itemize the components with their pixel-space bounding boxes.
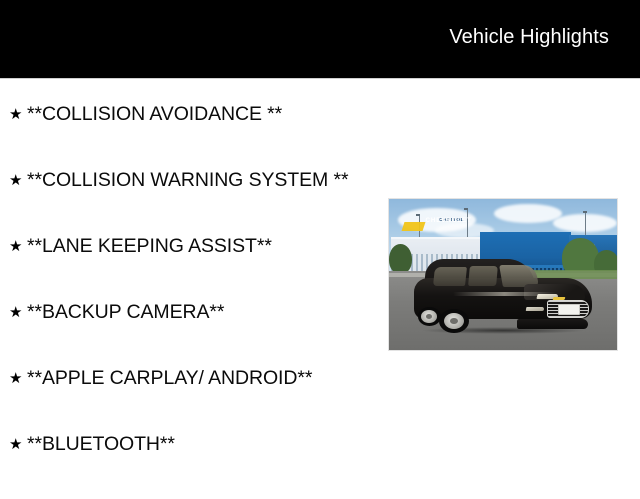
star-icon: ★ [9,169,27,192]
vehicle-highlights-list: ★ **COLLISION AVOIDANCE ** ★ **COLLISION… [0,79,375,480]
star-icon: ★ [9,433,27,456]
license-plate [558,304,580,315]
side-window [468,266,498,286]
chevrolet-bowtie-icon [401,222,424,231]
vehicle-photo: CAPITOL CHEVROLET Cadillac [388,198,618,351]
rear-wheel [418,307,441,326]
highlight-label: **COLLISION AVOIDANCE ** [27,103,375,126]
list-item: ★ **BLUETOOTH** [0,433,375,499]
star-icon: ★ [9,367,27,390]
highlight-label: **BACKUP CAMERA** [27,301,375,324]
dealer-sign-chevrolet: CHEVROLET [425,217,471,224]
highlight-label: **LANE KEEPING ASSIST** [27,235,375,258]
cloud [494,204,562,224]
light-pole-head [583,211,587,213]
star-icon: ★ [9,103,27,126]
fog-light [526,307,545,311]
highlight-label: **BLUETOOTH** [27,433,375,456]
list-item: ★ **COLLISION AVOIDANCE ** [0,103,375,169]
wheel-rim [421,310,437,323]
star-icon: ★ [9,235,27,258]
front-bumper [517,319,588,329]
tree [389,244,412,274]
highlight-label: **APPLE CARPLAY/ ANDROID** [27,367,375,390]
vehicle-sedan [414,259,592,331]
wheel-rim [444,313,465,330]
light-pole-head [416,214,420,216]
photo-stage: CAPITOL CHEVROLET Cadillac [389,199,617,350]
list-item: ★ **COLLISION WARNING SYSTEM ** [0,169,375,235]
list-item: ★ **LANE KEEPING ASSIST** [0,235,375,301]
page-header: Vehicle Highlights [0,0,640,78]
star-icon: ★ [9,301,27,324]
list-item: ★ **APPLE CARPLAY/ ANDROID** [0,367,375,433]
highlight-label: **COLLISION WARNING SYSTEM ** [27,169,375,192]
page-title: Vehicle Highlights [449,27,640,51]
light-pole-head [464,208,468,210]
rear-window [433,267,467,286]
list-item: ★ **BACKUP CAMERA** [0,301,375,367]
